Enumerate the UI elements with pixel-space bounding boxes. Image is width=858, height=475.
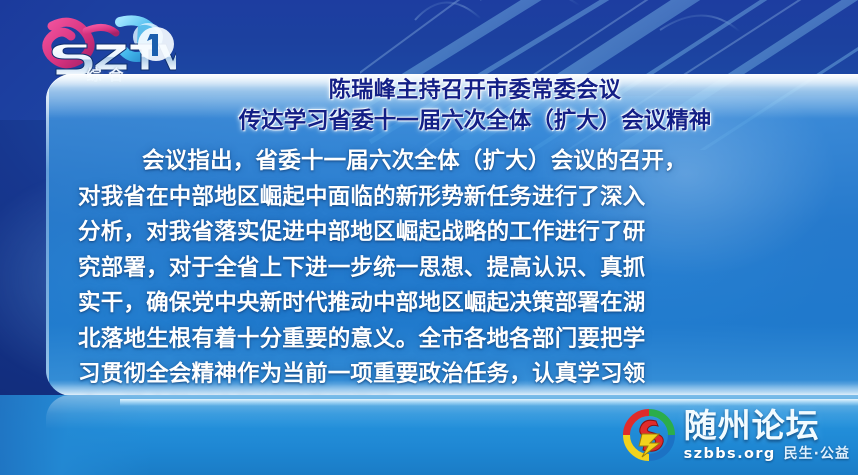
broadcast-frame: 综合 陈瑞峰主持召开市委常委会议 传达学习省委十一届六次全体（扩大）会议精神 会… [0,0,858,475]
panel-left-edge-highlight [46,74,49,396]
headline-line-1: 陈瑞峰主持召开市委常委会议 [92,76,858,106]
headline-line-2: 传达学习省委十一届六次全体（扩大）会议精神 [92,106,858,136]
body-line: 习贯彻全会精神作为当前一项重要政治任务，认真学习领 [78,357,826,393]
logo-channel-number [138,27,174,61]
forum-subline: szbbs.org 民生·公益 [684,447,850,462]
forum-slogan: 民生·公益 [784,447,850,461]
body-line: 分析，对我省落实促进中部地区崛起战略的工作进行了研 [78,215,826,251]
body-line: 北落地生根有着十分重要的意义。全市各地各部门要把学 [78,322,826,358]
news-headline: 陈瑞峰主持召开市委常委会议 传达学习省委十一届六次全体（扩大）会议精神 [92,76,858,136]
body-line: 会议指出，省委十一届六次全体（扩大）会议的召开， [78,144,826,180]
forum-site-url: szbbs.org [684,447,776,462]
body-line: 究部署，对于全省上下进一步统一思想、提高认识、真抓 [78,251,826,287]
forum-text-block: 随州论坛 szbbs.org 民生·公益 [684,409,850,462]
caption-panel: 陈瑞峰主持召开市委常委会议 传达学习省委十一届六次全体（扩大）会议精神 会议指出… [46,74,858,396]
forum-site-name: 随州论坛 [684,409,850,442]
body-line: 实干，确保党中央新时代推动中部地区崛起决策部署在湖 [78,286,826,322]
forum-logo-icon [622,408,676,462]
news-body-text: 会议指出，省委十一届六次全体（扩大）会议的召开， 对我省在中部地区崛起中面临的新… [78,144,826,396]
body-line: 对我省在中部地区崛起中面临的新形势新任务进行了深入 [78,180,826,216]
forum-watermark: 随州论坛 szbbs.org 民生·公益 [622,401,850,469]
